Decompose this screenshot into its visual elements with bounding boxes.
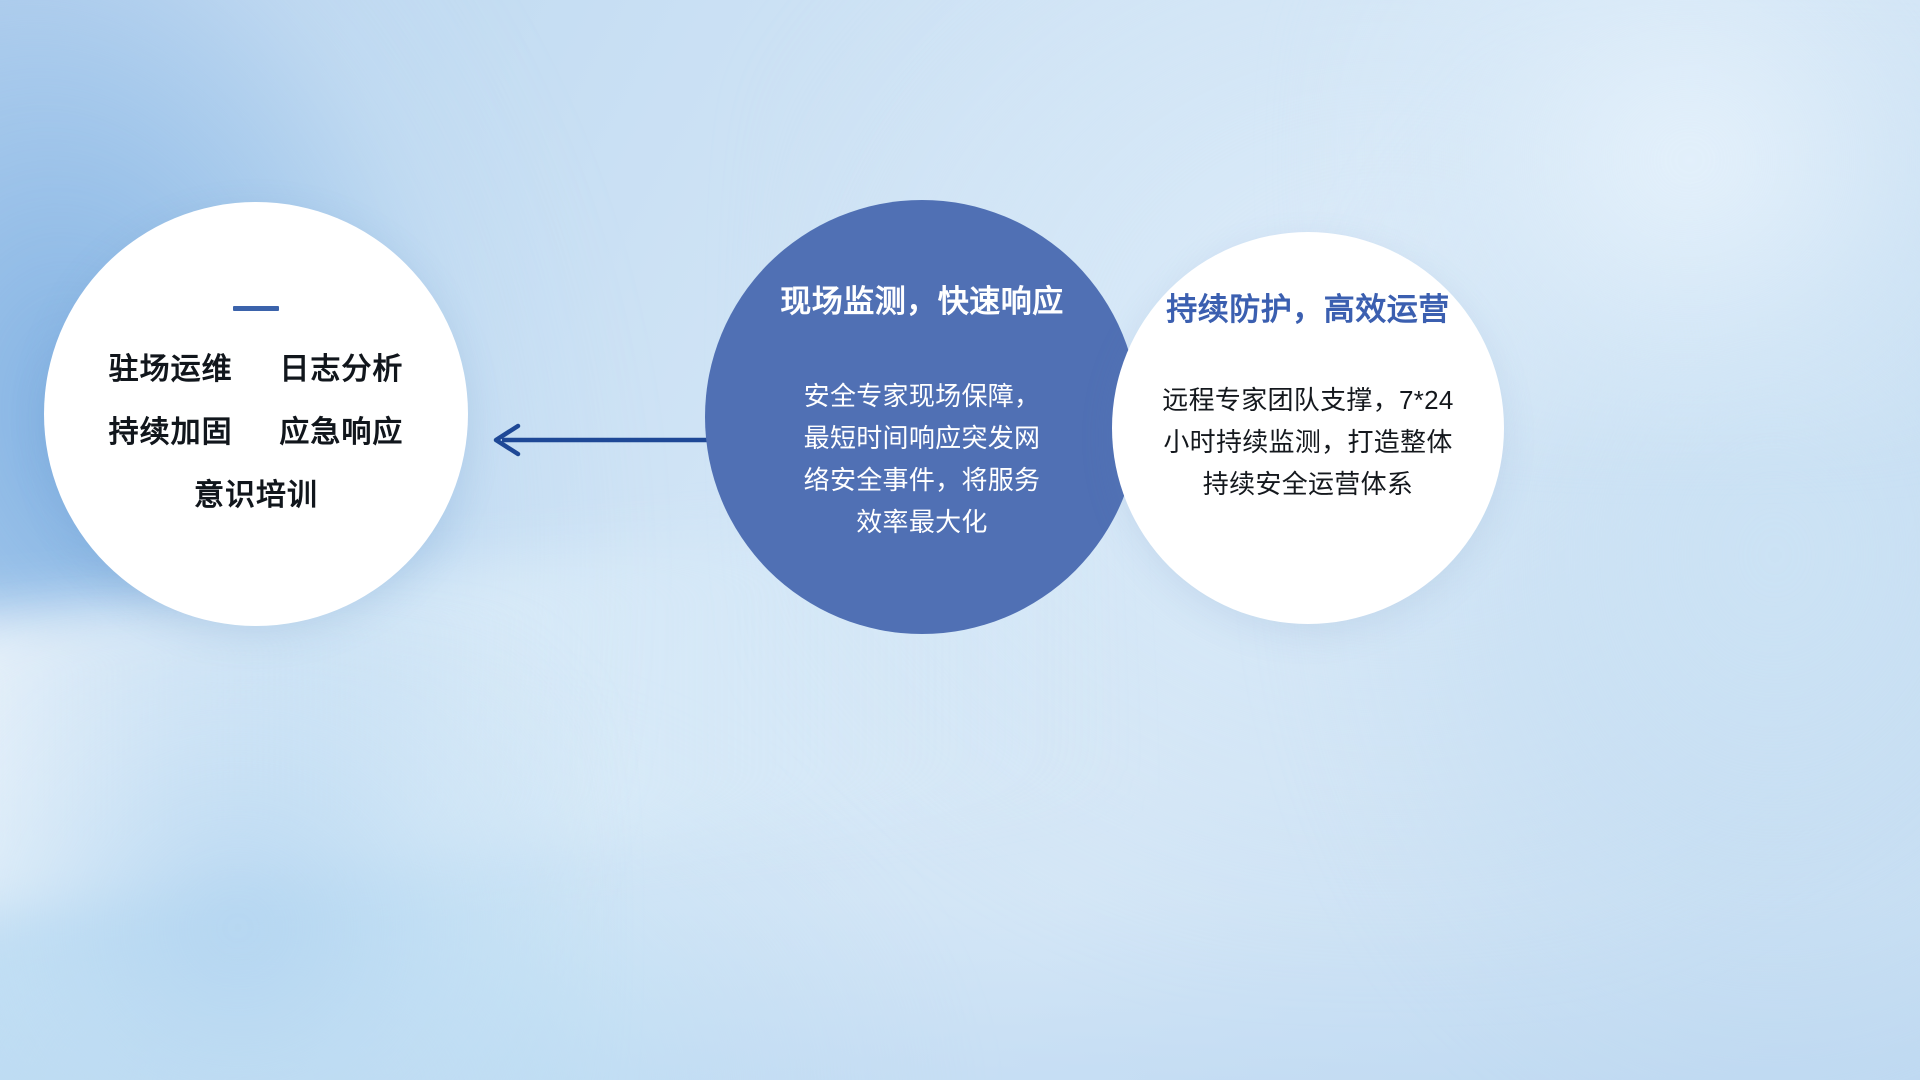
capability-label-onsite-ops: 驻场运维 — [109, 353, 233, 386]
body-line: 小时持续监测，打造整体 — [1136, 421, 1480, 463]
capability-label-emergency-response: 应急响应 — [279, 416, 403, 449]
onsite-monitoring-body: 安全专家现场保障， 最短时间响应突发网 络安全事件，将服务 效率最大化 — [766, 375, 1078, 543]
body-line: 效率最大化 — [766, 501, 1078, 543]
capability-row-2: 持续加固 应急响应 — [109, 418, 404, 448]
capability-row-1: 驻场运维 日志分析 — [109, 355, 404, 385]
capabilities-circle: 驻场运维 日志分析 持续加固 应急响应 意识培训 — [44, 202, 468, 626]
body-line: 持续安全运营体系 — [1136, 463, 1480, 505]
capability-row-3: 意识培训 — [194, 481, 318, 511]
body-line: 络安全事件，将服务 — [766, 459, 1078, 501]
capability-label-log-analysis: 日志分析 — [279, 353, 403, 386]
flow-arrow-icon — [478, 418, 718, 462]
body-line: 安全专家现场保障， — [766, 375, 1078, 417]
onsite-monitoring-circle: 现场监测，快速响应 安全专家现场保障， 最短时间响应突发网 络安全事件，将服务 … — [705, 200, 1139, 634]
background-bottom-vignette — [0, 780, 1920, 1080]
body-line: 最短时间响应突发网 — [766, 417, 1078, 459]
body-line: 远程专家团队支撑，7*24 — [1136, 379, 1480, 421]
divider-dash — [233, 306, 279, 311]
capability-label-awareness-training: 意识培训 — [194, 479, 318, 512]
continuous-protection-title: 持续防护，高效运营 — [1166, 294, 1450, 325]
continuous-protection-body: 远程专家团队支撑，7*24 小时持续监测，打造整体 持续安全运营体系 — [1136, 379, 1480, 505]
capability-label-continuous-hardening: 持续加固 — [109, 416, 233, 449]
onsite-monitoring-title: 现场监测，快速响应 — [780, 286, 1064, 317]
continuous-protection-circle: 持续防护，高效运营 远程专家团队支撑，7*24 小时持续监测，打造整体 持续安全… — [1112, 232, 1504, 624]
